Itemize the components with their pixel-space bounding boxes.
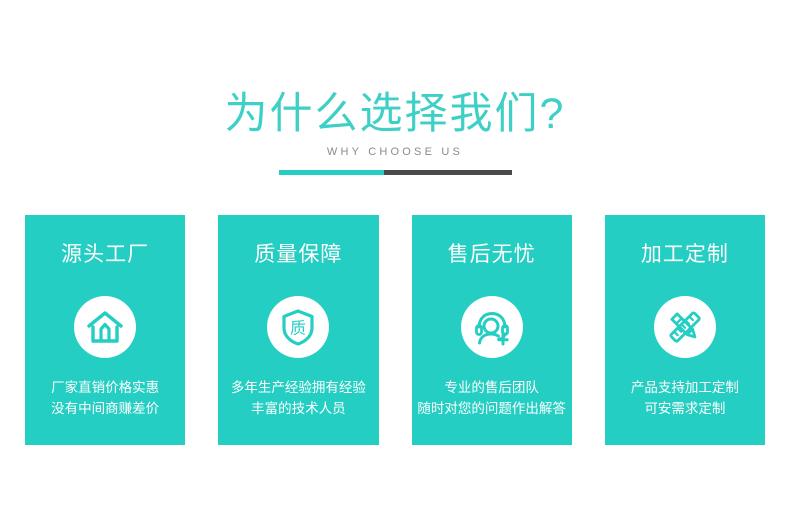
card-description: 专业的售后团队 随时对您的问题作出解答 xyxy=(412,377,572,419)
card-description-line-2: 没有中间商赚差价 xyxy=(25,398,185,419)
card-description-line-1: 专业的售后团队 xyxy=(412,377,572,398)
card-description-line-1: 产品支持加工定制 xyxy=(605,377,765,398)
card-description-line-1: 厂家直销价格实惠 xyxy=(25,377,185,398)
card-title: 源头工厂 xyxy=(25,242,185,268)
feature-card-list: 源头工厂 厂家直销价格实惠 没有中间商赚差价 质量保障 质 xyxy=(25,215,765,445)
card-title: 加工定制 xyxy=(605,242,765,268)
ruler-pencil-icon xyxy=(654,296,716,358)
factory-house-icon xyxy=(74,296,136,358)
shield-quality-icon: 质 xyxy=(267,296,329,358)
title-divider xyxy=(279,170,512,175)
why-choose-us-section: 为什么选择我们? WHY CHOOSE US 源头工厂 厂家直销价格实惠 没有中… xyxy=(0,0,790,527)
divider-accent-segment xyxy=(279,170,384,175)
card-description-line-1: 多年生产经验拥有经验 xyxy=(218,377,378,398)
card-description-line-2: 随时对您的问题作出解答 xyxy=(412,398,572,419)
card-description: 产品支持加工定制 可安需求定制 xyxy=(605,377,765,419)
divider-dark-segment xyxy=(384,170,512,175)
feature-card-source-factory[interactable]: 源头工厂 厂家直销价格实惠 没有中间商赚差价 xyxy=(25,215,185,445)
feature-card-quality-assurance[interactable]: 质量保障 质 多年生产经验拥有经验 丰富的技术人员 xyxy=(218,215,378,445)
card-description: 厂家直销价格实惠 没有中间商赚差价 xyxy=(25,377,185,419)
page-title: 为什么选择我们? xyxy=(0,88,790,140)
page-subtitle: WHY CHOOSE US xyxy=(0,145,790,159)
feature-card-custom-manufacturing[interactable]: 加工定制 产品支持加工定制 可安需求定制 xyxy=(605,215,765,445)
card-description: 多年生产经验拥有经验 丰富的技术人员 xyxy=(218,377,378,419)
card-title: 售后无忧 xyxy=(412,242,572,268)
section-header: 为什么选择我们? WHY CHOOSE US xyxy=(0,88,790,175)
card-title: 质量保障 xyxy=(218,242,378,268)
shield-icon-glyph: 质 xyxy=(290,319,306,338)
feature-card-after-sales[interactable]: 售后无忧 专业的售后团队 随时对您的问题作出解答 xyxy=(412,215,572,445)
card-description-line-2: 可安需求定制 xyxy=(605,398,765,419)
headset-support-icon xyxy=(461,296,523,358)
card-description-line-2: 丰富的技术人员 xyxy=(218,398,378,419)
